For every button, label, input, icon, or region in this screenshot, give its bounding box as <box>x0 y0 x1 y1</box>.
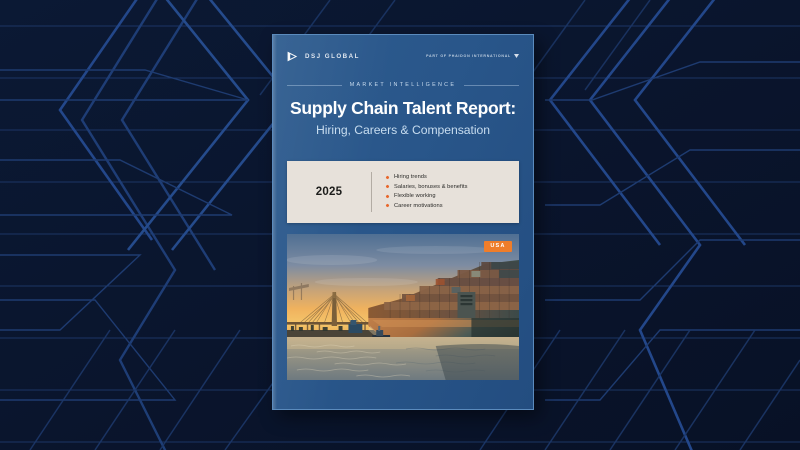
list-item: Salaries, bonuses & benefits <box>386 184 513 190</box>
bullet-diamond-icon <box>385 203 389 207</box>
brand-lockup[interactable]: DSJ GLOBAL <box>287 51 360 62</box>
report-title: Supply Chain Talent Report: <box>287 98 519 119</box>
parent-company-lockup[interactable]: PART OF PHAIDON INTERNATIONAL <box>426 54 519 58</box>
eyebrow-row: MARKET INTELLIGENCE <box>287 82 519 88</box>
report-subtitle: Hiring, Careers & Compensation <box>287 123 519 139</box>
list-item-label: Hiring trends <box>394 174 427 180</box>
cover-header: DSJ GLOBAL PART OF PHAIDON INTERNATIONAL <box>287 48 519 64</box>
eyebrow-label: MARKET INTELLIGENCE <box>350 82 457 88</box>
list-item-label: Salaries, bonuses & benefits <box>394 184 468 190</box>
eyebrow-rule-left <box>287 85 342 86</box>
region-badge: USA <box>484 241 512 252</box>
list-item: Hiring trends <box>386 174 513 180</box>
document-spine <box>273 35 277 409</box>
bullet-diamond-icon <box>385 175 389 179</box>
list-item: Flexible working <box>386 193 513 199</box>
eyebrow-rule-right <box>464 85 519 86</box>
brand-name: DSJ GLOBAL <box>305 53 360 60</box>
bullet-diamond-icon <box>385 194 389 198</box>
report-cover[interactable]: DSJ GLOBAL PART OF PHAIDON INTERNATIONAL… <box>272 34 534 410</box>
chevron-play-mark-icon <box>287 51 300 62</box>
year-block: 2025 <box>287 161 371 223</box>
topic-list: Hiring trends Salaries, bonuses & benefi… <box>372 161 519 223</box>
list-item-label: Flexible working <box>394 193 436 199</box>
photo-artwork <box>287 234 519 380</box>
list-item-label: Career motivations <box>394 203 443 209</box>
parent-company-label: PART OF PHAIDON INTERNATIONAL <box>426 54 511 58</box>
highlights-card: 2025 Hiring trends Salaries, bonuses & b… <box>287 161 519 223</box>
year-value: 2025 <box>316 186 342 198</box>
title-block: Supply Chain Talent Report: Hiring, Care… <box>287 98 519 139</box>
triangle-mark-icon <box>514 54 519 58</box>
list-item: Career motivations <box>386 203 513 209</box>
screenshot-canvas: DSJ GLOBAL PART OF PHAIDON INTERNATIONAL… <box>0 0 800 450</box>
bullet-diamond-icon <box>385 185 389 189</box>
container-ship-sunset-photo: USA <box>287 234 519 380</box>
